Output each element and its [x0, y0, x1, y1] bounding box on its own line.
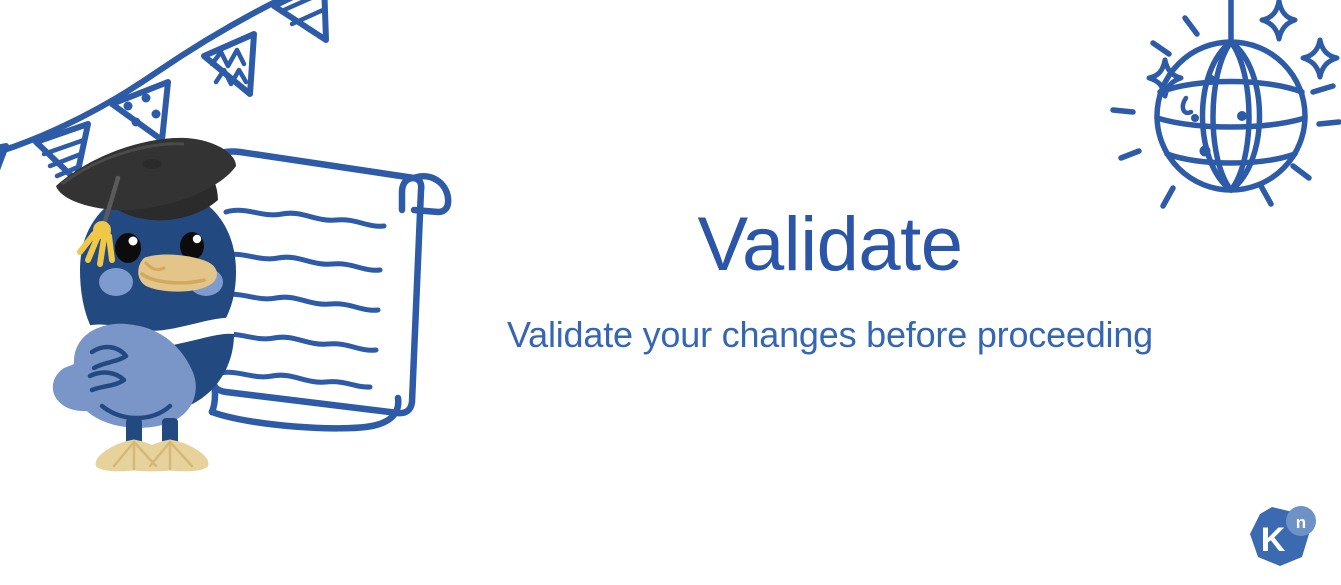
graduation-cap-icon — [56, 138, 236, 264]
graduate-bird-with-scroll-illustration — [40, 130, 480, 475]
slide-canvas: Validate Validate your changes before pr… — [0, 0, 1341, 585]
logo-k-letter: K — [1261, 521, 1286, 559]
page-subtitle: Validate your changes before proceeding — [480, 313, 1180, 356]
party-bunting-decoration — [0, 0, 332, 194]
graduate-bird-mascot-icon — [53, 138, 236, 471]
disco-ball-decoration — [1107, 0, 1341, 226]
kn-logo: K n — [1239, 503, 1323, 577]
logo-n-letter: n — [1296, 513, 1306, 532]
slide-text-block: Validate Validate your changes before pr… — [480, 205, 1180, 356]
page-title: Validate — [480, 205, 1180, 285]
certificate-scroll-icon — [202, 152, 448, 429]
